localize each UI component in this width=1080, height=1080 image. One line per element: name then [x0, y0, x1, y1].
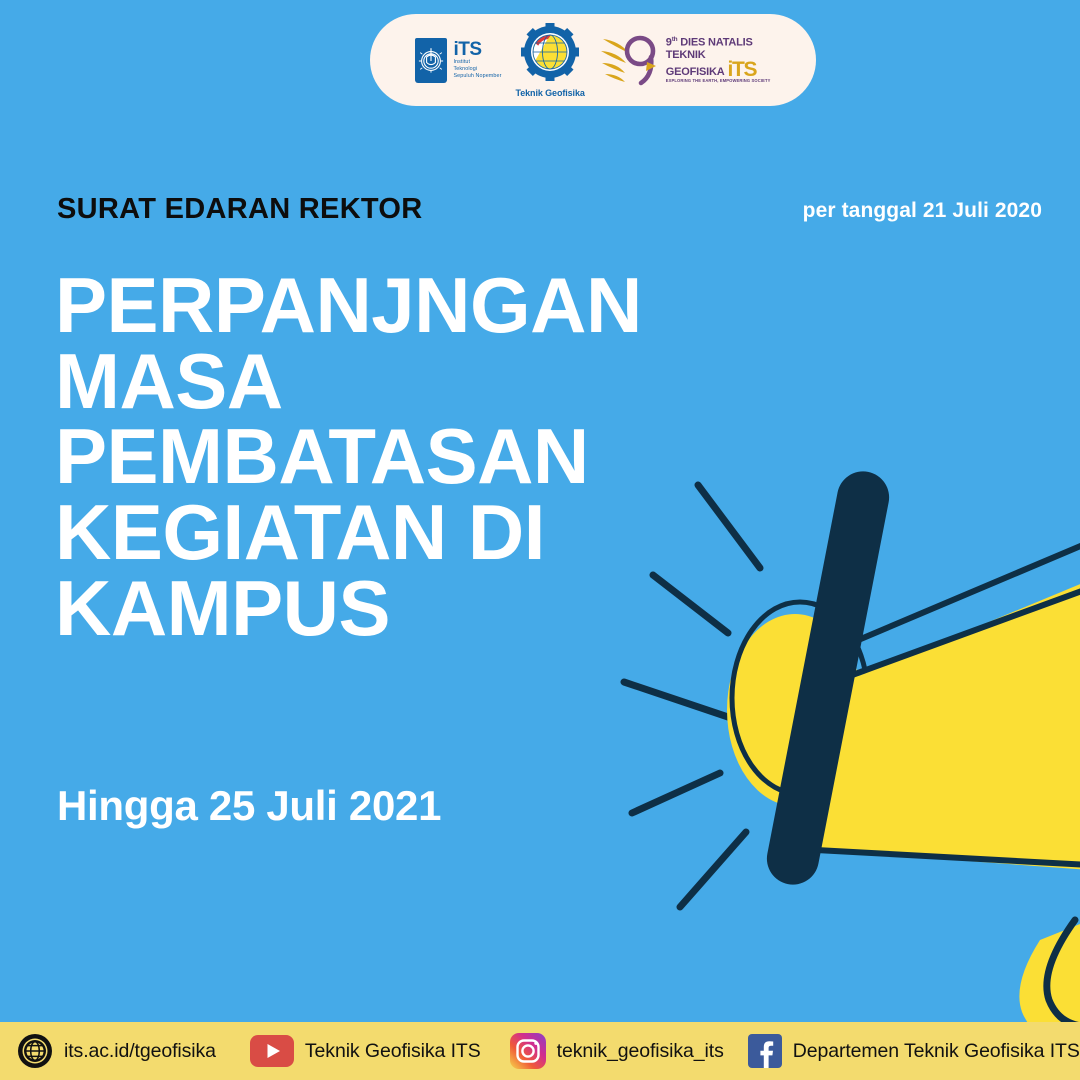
- social-label-youtube[interactable]: Teknik Geofisika ITS: [305, 1040, 481, 1063]
- youtube-icon[interactable]: [250, 1035, 294, 1067]
- its-shield-icon: [415, 38, 447, 83]
- kicker-label: SURAT EDARAN REKTOR: [57, 193, 423, 226]
- headline-line-4: KEGIATAN DI: [55, 495, 755, 571]
- dies-geofisika: GEOFISIKA: [666, 67, 725, 79]
- headline-line-1: PERPANJNGAN: [55, 268, 755, 344]
- subtitle-date: Hingga 25 Juli 2021: [57, 782, 441, 830]
- social-label-facebook[interactable]: Departemen Teknik Geofisika ITS: [793, 1040, 1080, 1063]
- social-item-instagram[interactable]: teknik_geofisika_its: [510, 1033, 724, 1069]
- headline-line-3: PEMBATASAN: [55, 419, 755, 495]
- headline-line-2: MASA: [55, 344, 755, 420]
- its-subtitle-3: Sepuluh Nopember: [453, 73, 501, 80]
- its-institution-logo: iTS Institut Teknologi Sepuluh Nopember: [415, 38, 501, 83]
- dies-line-1: 9th DIES NATALIS: [666, 36, 771, 50]
- its-subtitle-1: Institut: [453, 59, 501, 66]
- dies-tagline: EXPLORING THE EARTH, EMPOWERING SOCIETY: [666, 79, 771, 83]
- page-title: PERPANJNGAN MASA PEMBATASAN KEGIATAN DI …: [55, 268, 755, 646]
- its-wordmark: iTS Institut Teknologi Sepuluh Nopember: [453, 40, 501, 81]
- header-logo-card: iTS Institut Teknologi Sepuluh Nopember: [370, 14, 816, 106]
- facebook-icon[interactable]: [748, 1034, 782, 1068]
- dies-natalis-text: 9th DIES NATALIS TEKNIK GEOFISIKA iTS EX…: [666, 36, 771, 84]
- globe-icon[interactable]: [17, 1033, 53, 1069]
- social-item-facebook[interactable]: Departemen Teknik Geofisika ITS: [748, 1034, 1080, 1068]
- its-subtitle-2: Teknologi: [453, 66, 501, 73]
- dies-title: DIES NATALIS: [680, 37, 752, 49]
- dies-natalis-logo: 9th DIES NATALIS TEKNIK GEOFISIKA iTS EX…: [599, 27, 771, 94]
- dies-line-3: GEOFISIKA iTS: [666, 62, 771, 79]
- teknik-geofisika-caption: Teknik Geofisika: [516, 88, 585, 98]
- instagram-icon[interactable]: [510, 1033, 546, 1069]
- its-wordmark-text: iTS: [453, 40, 501, 59]
- wing-nine-icon: [599, 27, 663, 94]
- footer-bar: its.ac.id/tgeofisika Teknik Geofisika IT…: [0, 1022, 1080, 1080]
- social-label-website[interactable]: its.ac.id/tgeofisika: [64, 1040, 216, 1063]
- gear-globe-icon: [521, 23, 579, 86]
- dies-ordinal-suffix: th: [672, 36, 678, 43]
- teknik-geofisika-logo: Teknik Geofisika: [516, 23, 585, 98]
- headline-line-5: KAMPUS: [55, 571, 755, 647]
- dies-its-mark: iTS: [727, 62, 756, 79]
- social-item-youtube[interactable]: Teknik Geofisika ITS: [250, 1035, 481, 1067]
- date-note: per tanggal 21 Juli 2020: [803, 199, 1042, 223]
- social-item-website[interactable]: its.ac.id/tgeofisika: [17, 1033, 216, 1069]
- social-label-instagram[interactable]: teknik_geofisika_its: [557, 1040, 724, 1063]
